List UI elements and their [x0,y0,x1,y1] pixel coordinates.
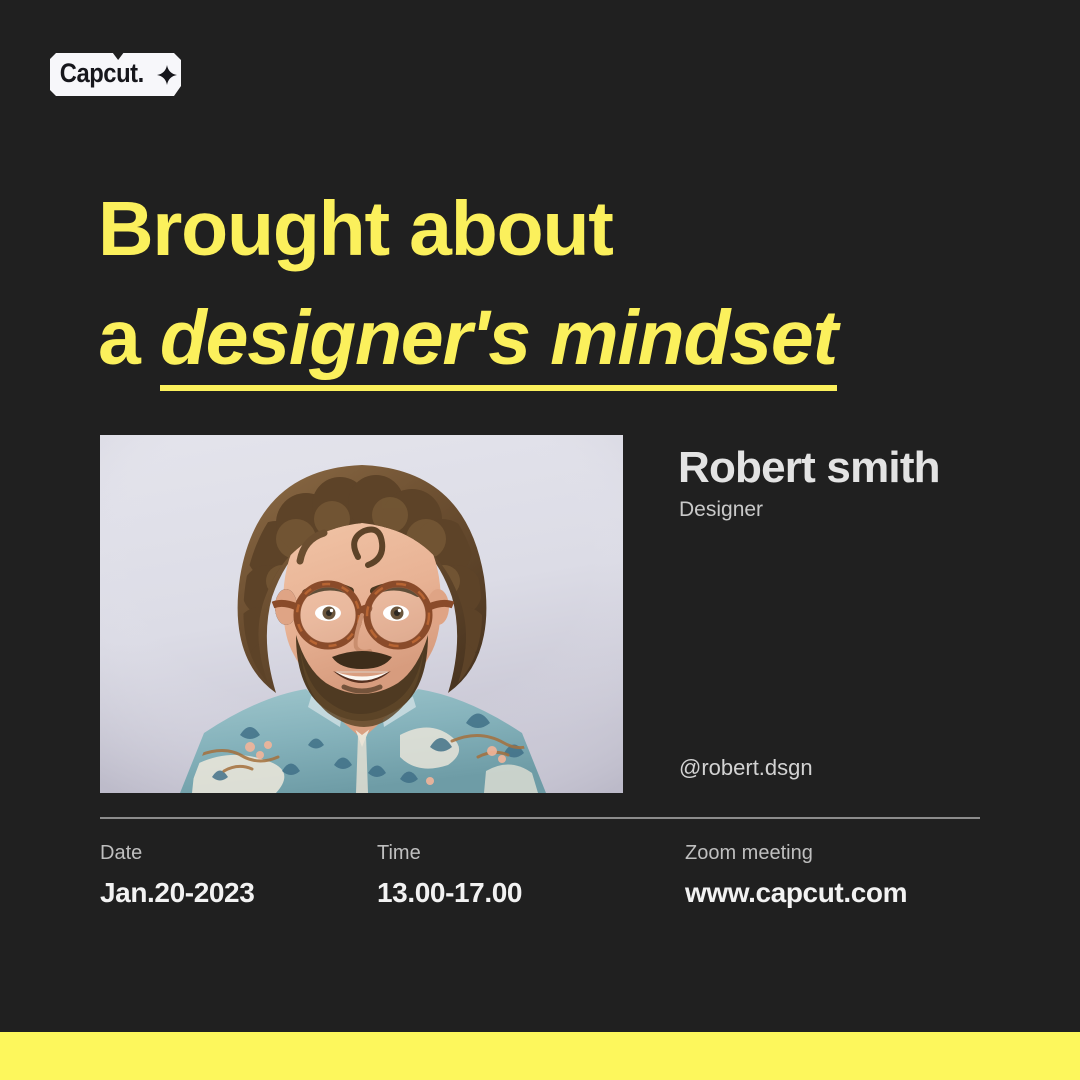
speaker-portrait-photo [100,435,623,793]
headline-line-1: Brought about [98,175,968,284]
info-column-time: Time 13.00-17.00 [377,843,522,907]
speaker-role: Designer [679,499,763,520]
info-label-date: Date [100,843,254,863]
four-point-star-icon [157,65,177,85]
page-title: Brought about a designer's mindset [98,175,968,394]
info-label-zoom-meeting: Zoom meeting [685,843,907,863]
headline-line-2: a designer's mindset [98,284,968,393]
capcut-logo-text: Capcut. [60,60,144,89]
section-divider [100,817,980,819]
info-value-date: Jan.20-2023 [100,879,254,907]
capcut-logo-badge[interactable]: Capcut. [50,53,181,96]
info-value-zoom-meeting-url[interactable]: www.capcut.com [685,879,907,907]
info-column-date: Date Jan.20-2023 [100,843,254,907]
headline-line-2-prefix: a [98,295,160,381]
info-column-zoom-meeting: Zoom meeting www.capcut.com [685,843,907,907]
info-value-time: 13.00-17.00 [377,879,522,907]
speaker-name: Robert smith [678,446,940,490]
headline-emphasis: designer's mindset [160,298,837,391]
speaker-social-handle: @robert.dsgn [679,757,813,779]
info-label-time: Time [377,843,522,863]
bottom-accent-bar [0,1032,1080,1080]
